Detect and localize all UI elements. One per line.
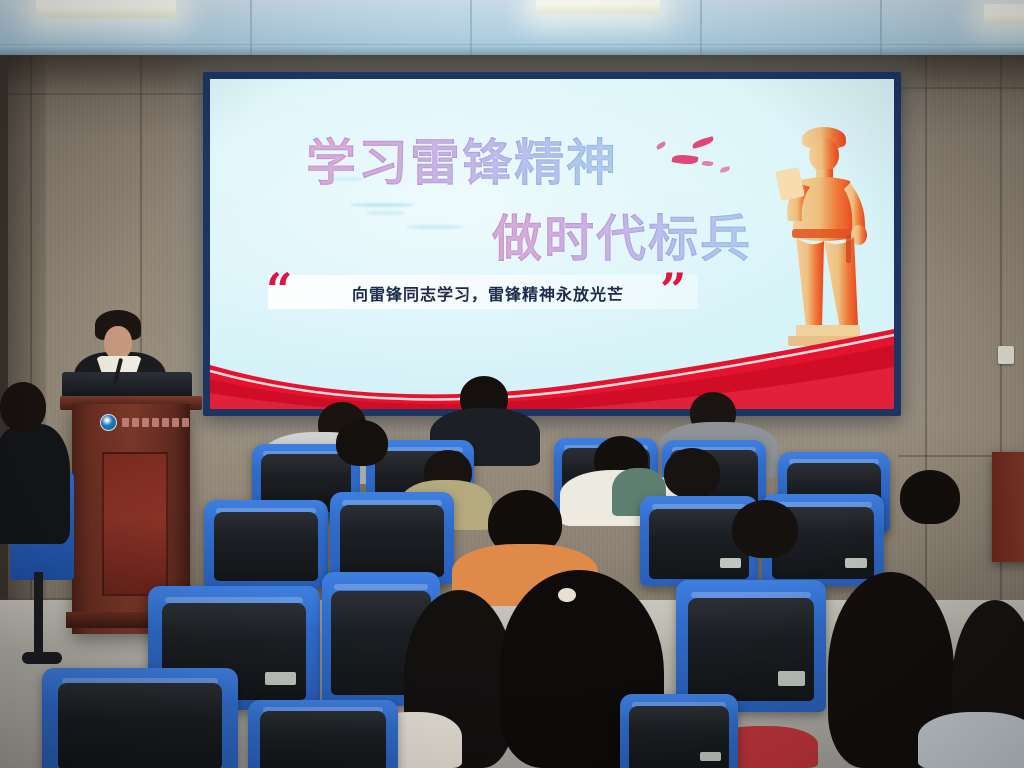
seated-person-left-body (0, 424, 70, 544)
speaker-face (104, 326, 132, 360)
ceiling-light-2 (536, 0, 660, 14)
seat[interactable] (204, 500, 328, 588)
seated-person-left-foot (22, 652, 62, 664)
audience-head (732, 500, 798, 558)
seat[interactable] (42, 668, 238, 768)
ceiling-light-1 (36, 0, 176, 18)
seated-person-left-head (0, 382, 46, 432)
slide-quote-text: 向雷锋同志学习，雷锋精神永放光芒 (318, 281, 658, 305)
seat[interactable] (330, 492, 454, 584)
wall-switch-plate[interactable] (998, 346, 1014, 364)
presenter-laptop[interactable] (62, 372, 192, 398)
audience-head (664, 448, 720, 498)
podium-nameplate (122, 416, 196, 428)
audience-shoulder (918, 712, 1024, 768)
slide-title-line-1: 学习雷锋精神 (306, 123, 618, 195)
seated-person-left-leg (34, 572, 43, 658)
slide-red-ribbon (210, 323, 894, 409)
seat[interactable] (620, 694, 738, 768)
wall-corner (0, 55, 8, 655)
presentation-slide[interactable]: 学习雷锋精神 做时代标兵 “ 向雷锋同志学习，雷锋精神永放光芒 ” (210, 79, 894, 409)
podium-front-panel (102, 452, 168, 596)
ceiling (0, 0, 1024, 62)
slide-title-line-2: 做时代标兵 (492, 199, 752, 271)
quote-close-icon: ” (660, 267, 686, 313)
flying-birds-decoration (648, 135, 744, 183)
led-screen-frame: 学习雷锋精神 做时代标兵 “ 向雷锋同志学习，雷锋精神永放光芒 ” (203, 72, 901, 416)
ceiling-light-3 (984, 4, 1024, 24)
school-emblem-icon (100, 414, 117, 431)
side-table (992, 452, 1024, 562)
audience-head (336, 420, 388, 466)
lecture-hall-photo: 学习雷锋精神 做时代标兵 “ 向雷锋同志学习，雷锋精神永放光芒 ” (0, 0, 1024, 768)
seat[interactable] (248, 700, 398, 768)
quote-open-icon: “ (266, 267, 292, 313)
audience-head (900, 470, 960, 524)
hair-tie-icon (558, 588, 576, 602)
seat[interactable] (676, 580, 826, 712)
